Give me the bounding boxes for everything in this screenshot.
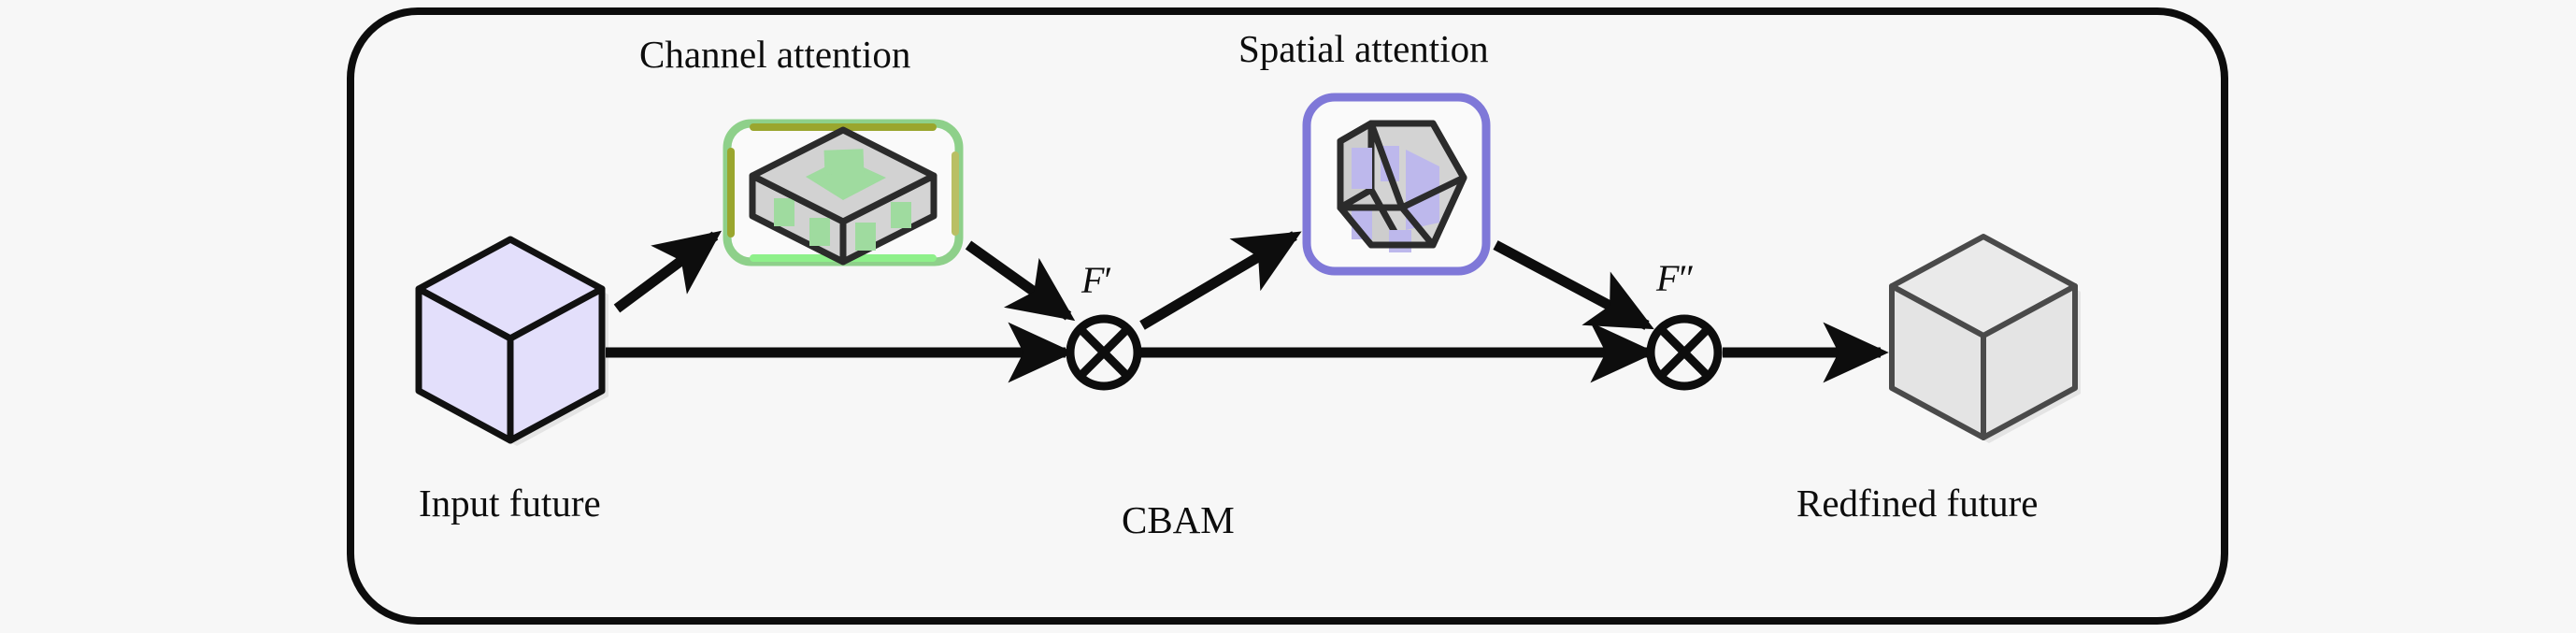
f-prime-label: F′ <box>1081 262 1111 299</box>
channel-attention-box[interactable] <box>727 123 959 262</box>
f-prime-mark: ′ <box>1104 259 1111 301</box>
spatial-attention-box[interactable] <box>1307 97 1486 271</box>
refined-feature-label: Redfined future <box>1796 484 2038 523</box>
spatial-attention-label: Spatial attention <box>1238 30 1489 68</box>
cbam-diagram <box>0 0 2576 633</box>
f-double-prime-mark: ″ <box>1679 257 1694 299</box>
f-double-prime-base: F <box>1656 257 1679 299</box>
multiply-operator-1 <box>1070 319 1138 386</box>
figure-canvas: Channel attention Spatial attention Inpu… <box>0 0 2576 633</box>
f-prime-base: F <box>1081 259 1104 301</box>
input-feature-label: Input future <box>419 484 601 523</box>
module-name-label: CBAM <box>1122 501 1235 539</box>
f-double-prime-label: F″ <box>1656 260 1694 297</box>
multiply-operator-2 <box>1651 319 1718 386</box>
channel-attention-label: Channel attention <box>639 36 910 74</box>
